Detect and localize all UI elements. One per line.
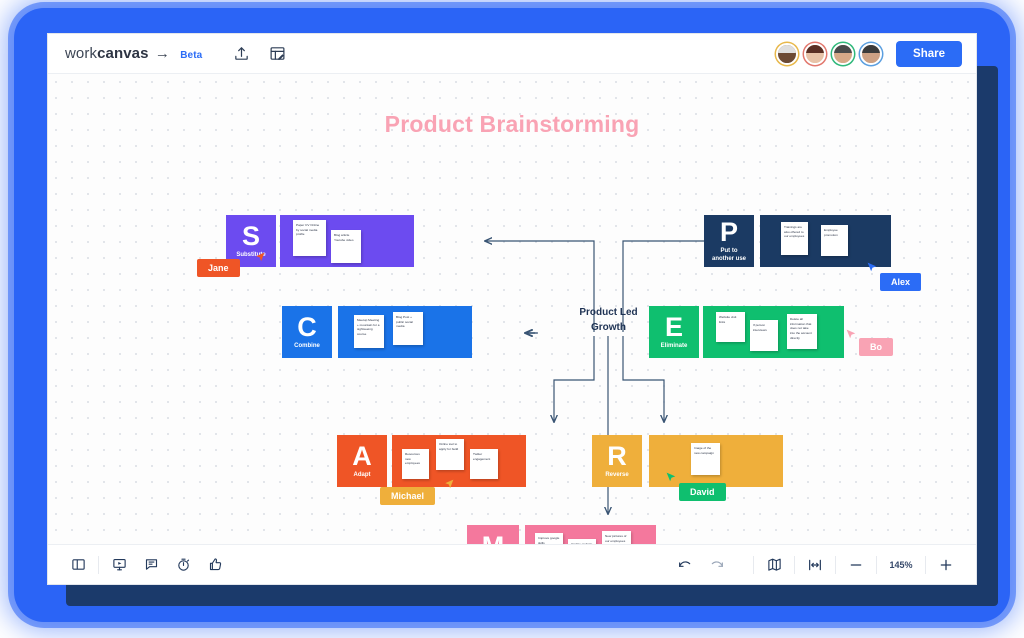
letter-card-a[interactable]: A Adapt: [337, 435, 387, 487]
comment-icon[interactable]: [135, 551, 167, 579]
letter-s: S: [242, 223, 260, 250]
note-panel-eliminate[interactable]: Website visit links If person interviews…: [703, 306, 844, 358]
sticky-note[interactable]: If person interviews: [750, 320, 778, 351]
avatar[interactable]: [860, 43, 882, 65]
letter-card-r[interactable]: R Reverse: [592, 435, 642, 487]
fit-to-screen-icon[interactable]: [799, 551, 831, 579]
redo-icon[interactable]: [701, 551, 733, 579]
cursor-pointer-icon: [845, 328, 858, 341]
sticky-note[interactable]: Trainings are also offered to our employ…: [781, 222, 808, 255]
cursor-label: Bo: [859, 338, 893, 356]
sticky-note[interactable]: Blog article Youtube video: [331, 230, 361, 263]
presentation-icon[interactable]: [103, 551, 135, 579]
whiteboard-canvas[interactable]: Product Brainstorming: [48, 74, 976, 546]
bottom-toolbar: 145%: [48, 544, 976, 584]
sticky-note[interactable]: Twitter engagement: [470, 449, 498, 479]
letter-p: P: [720, 219, 738, 246]
toolbar-left-group: [62, 551, 231, 579]
sticky-note[interactable]: Meetup Meeting + mountain for a sightsee…: [354, 315, 384, 348]
cursor-david: David: [679, 482, 726, 501]
minimap-icon[interactable]: [758, 551, 790, 579]
cursor-alex: Alex: [880, 272, 921, 291]
sticky-note[interactable]: Employee promotion: [821, 225, 848, 256]
cursor-pointer-icon: [665, 471, 678, 484]
cursor-pointer-icon: [866, 261, 879, 274]
header-right-group: Share: [776, 41, 962, 67]
note-panel-put-to-another-use[interactable]: Trainings are also offered to our employ…: [760, 215, 891, 267]
label-put-to-another-use: Put toanother use: [710, 248, 748, 263]
label-adapt: Adapt: [352, 472, 373, 480]
label-eliminate: Eliminate: [659, 343, 690, 351]
letter-c: C: [297, 314, 317, 341]
zoom-out-button[interactable]: [840, 551, 872, 579]
letter-card-m[interactable]: M Modify: [467, 525, 519, 546]
cursor-pointer-icon: [253, 251, 266, 264]
sticky-note[interactable]: Resources new employees: [402, 449, 429, 479]
sticky-note[interactable]: Online tool to apply for build: [436, 439, 464, 470]
letter-card-p[interactable]: P Put toanother use: [704, 215, 754, 267]
app-header: workcanvas → Beta: [48, 34, 976, 74]
letter-a: A: [352, 443, 372, 470]
cursor-label: Alex: [880, 273, 921, 291]
avatar-hair: [862, 45, 880, 53]
sticky-note[interactable]: Delete all information that does not tak…: [787, 314, 817, 349]
template-icon[interactable]: [264, 41, 290, 67]
cursor-label: Jane: [197, 259, 240, 277]
letter-e: E: [665, 314, 683, 341]
undo-icon[interactable]: [669, 551, 701, 579]
thumbs-up-icon[interactable]: [199, 551, 231, 579]
label-combine: Combine: [292, 343, 322, 351]
cursor-michael: Michael: [380, 486, 435, 505]
zoom-in-button[interactable]: [930, 551, 962, 579]
note-panel-combine[interactable]: Meetup Meeting + mountain for a sightsee…: [338, 306, 472, 358]
toolbar-divider: [925, 556, 926, 574]
toolbar-right-group: 145%: [669, 551, 962, 579]
note-panel-substitute[interactable]: Paper CV Online by social media profile …: [280, 215, 414, 267]
sticky-note[interactable]: Website visit links: [716, 312, 745, 342]
avatar[interactable]: [832, 43, 854, 65]
avatar-hair: [834, 45, 852, 53]
letter-card-c[interactable]: C Combine: [282, 306, 332, 358]
cursor-bo: Bo: [859, 337, 893, 356]
avatar-face: [810, 54, 820, 62]
avatar-face: [838, 54, 848, 62]
avatar-face: [866, 54, 876, 62]
cursor-label: Michael: [380, 487, 435, 505]
app-window: workcanvas → Beta: [47, 33, 977, 585]
brand-work: work: [65, 45, 97, 62]
header-tool-group: [228, 41, 290, 67]
toolbar-divider: [753, 556, 754, 574]
cursor-jane: Jane: [197, 258, 240, 277]
toolbar-divider: [876, 556, 877, 574]
sticky-note[interactable]: Blog Post + public social media: [393, 312, 423, 345]
toolbar-divider: [794, 556, 795, 574]
avatar[interactable]: [804, 43, 826, 65]
share-button[interactable]: Share: [896, 41, 962, 67]
avatar-hair: [778, 45, 796, 53]
toolbar-divider: [98, 556, 99, 574]
note-panel-adapt[interactable]: Resources new employees Online tool to a…: [392, 435, 526, 487]
cursor-label: David: [679, 483, 726, 501]
zoom-level-label[interactable]: 145%: [881, 560, 921, 570]
sticky-note[interactable]: Image of the new campaign: [691, 443, 720, 475]
sticky-note[interactable]: Paper CV Online by social media profile: [293, 220, 326, 256]
beta-badge: Beta: [180, 50, 202, 61]
label-reverse: Reverse: [603, 472, 630, 480]
avatar[interactable]: [776, 43, 798, 65]
avatar-face: [782, 54, 792, 62]
timer-icon[interactable]: [167, 551, 199, 579]
cursor-pointer-icon: [442, 478, 455, 491]
brand-canvas: canvas: [97, 45, 148, 62]
toolbar-divider: [835, 556, 836, 574]
letter-card-e[interactable]: E Eliminate: [649, 306, 699, 358]
brand-logo[interactable]: workcanvas → Beta: [65, 45, 202, 62]
upload-icon[interactable]: [228, 41, 254, 67]
note-panel-modify[interactable]: Improve google skills Update website job…: [525, 525, 656, 546]
letter-r: R: [607, 443, 627, 470]
avatar-hair: [806, 45, 824, 53]
panel-toggle-icon[interactable]: [62, 551, 94, 579]
brand-arrow-icon: →: [155, 45, 170, 62]
